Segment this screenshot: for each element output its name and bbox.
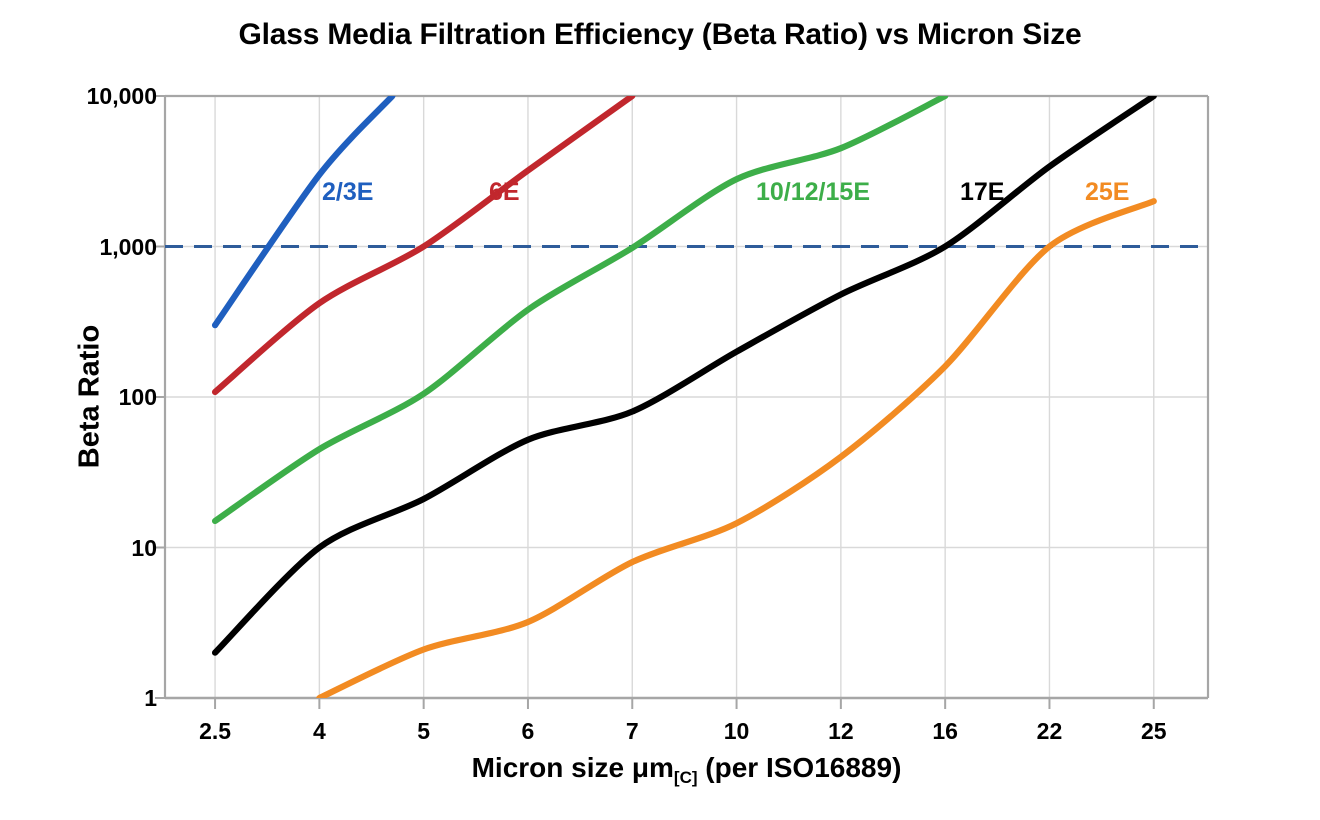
series-label-17e: 17E bbox=[960, 178, 1004, 207]
x-axis-title: Micron size μm[C] (per ISO16889) bbox=[165, 752, 1208, 784]
y-axis-tick-label: 10,000 bbox=[37, 83, 157, 110]
series-label-25e: 25E bbox=[1085, 178, 1129, 207]
x-axis-title-tail: (per ISO16889) bbox=[698, 752, 902, 783]
series-label-2-3e: 2/3E bbox=[322, 178, 373, 207]
x-axis-tick-label: 22 bbox=[1004, 718, 1094, 745]
x-axis-tick-label: 5 bbox=[379, 718, 469, 745]
y-axis-tick-label: 1,000 bbox=[37, 234, 157, 261]
plot-area: 1101001,00010,000 2.545671012162225 2/3E… bbox=[0, 0, 1320, 820]
plot-svg bbox=[0, 0, 1320, 820]
x-axis-tick-label: 4 bbox=[274, 718, 364, 745]
y-axis-tick-label: 10 bbox=[37, 535, 157, 562]
x-axis-tick-label: 6 bbox=[483, 718, 573, 745]
x-axis-title-main: Micron size μm bbox=[472, 752, 674, 783]
series-label-6e: 6E bbox=[489, 178, 520, 207]
x-axis-tick-label: 25 bbox=[1109, 718, 1199, 745]
x-axis-tick-label: 12 bbox=[796, 718, 886, 745]
x-axis-tick-label: 7 bbox=[587, 718, 677, 745]
series-label-10-12-15e: 10/12/15E bbox=[756, 178, 870, 207]
x-axis-tick-label: 16 bbox=[900, 718, 990, 745]
x-axis-tick-label: 2.5 bbox=[170, 718, 260, 745]
x-axis-title-sub: [C] bbox=[674, 768, 698, 787]
x-axis-tick-label: 10 bbox=[692, 718, 782, 745]
chart-root: Glass Media Filtration Efficiency (Beta … bbox=[0, 0, 1320, 820]
y-axis-title: Beta Ratio bbox=[74, 267, 107, 527]
y-axis-tick-label: 1 bbox=[37, 685, 157, 712]
